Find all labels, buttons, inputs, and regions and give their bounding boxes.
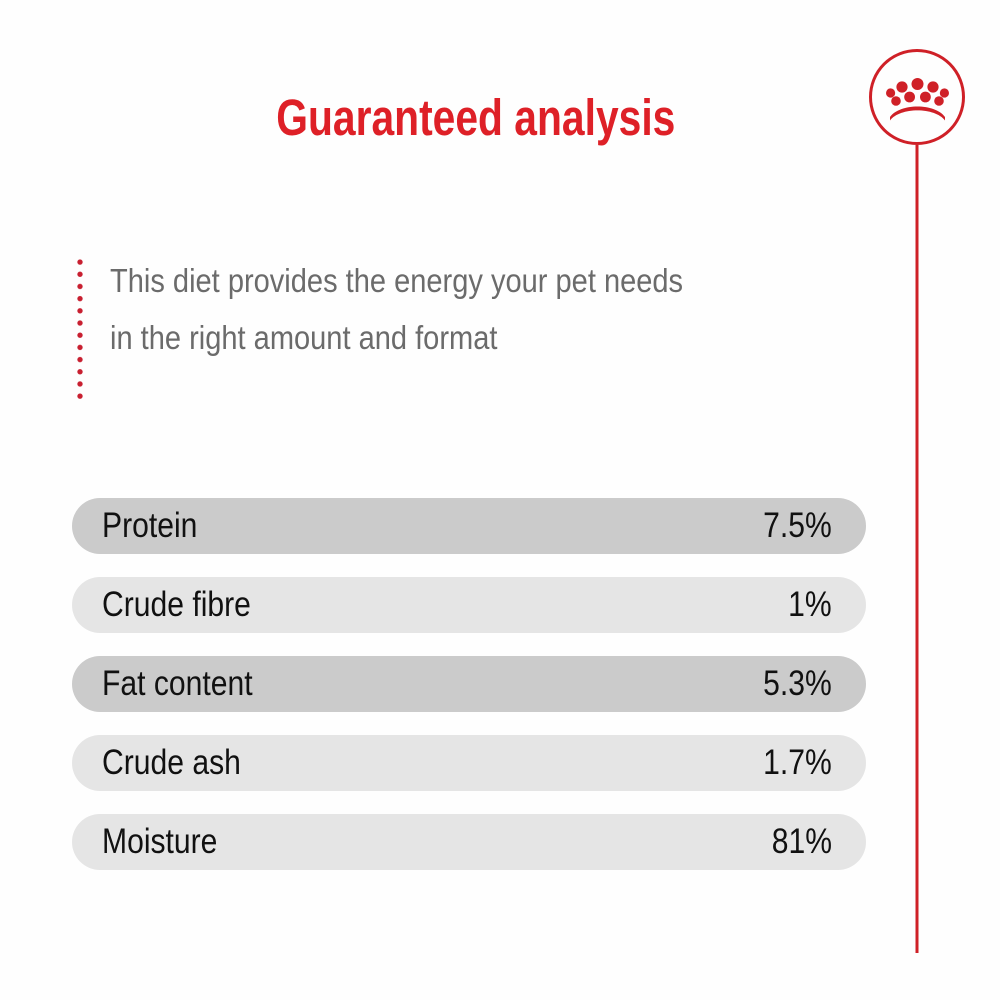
guaranteed-analysis-page: Guaranteed analysis This diet provides t… xyxy=(0,0,1000,1000)
analysis-table: Protein7.5%Crude fibre1%Fat content5.3%C… xyxy=(72,498,866,870)
row-label: Protein xyxy=(102,506,197,546)
row-value: 81% xyxy=(772,822,832,862)
table-row: Crude fibre1% xyxy=(72,577,866,633)
row-label: Fat content xyxy=(102,664,253,704)
row-value: 1% xyxy=(788,585,832,625)
dotted-accent-rule xyxy=(76,256,84,401)
brand-logo xyxy=(869,49,969,149)
table-row: Fat content5.3% xyxy=(72,656,866,712)
logo-stem-line xyxy=(916,145,919,953)
table-row: Crude ash1.7% xyxy=(72,735,866,791)
intro-line-1: This diet provides the energy your pet n… xyxy=(110,252,744,309)
row-value: 5.3% xyxy=(763,664,832,704)
row-value: 1.7% xyxy=(763,743,832,783)
row-label: Moisture xyxy=(102,822,217,862)
row-value: 7.5% xyxy=(763,506,832,546)
row-label: Crude fibre xyxy=(102,585,251,625)
crown-icon xyxy=(886,75,949,121)
page-title: Guaranteed analysis xyxy=(95,88,857,148)
intro-text: This diet provides the energy your pet n… xyxy=(110,252,744,366)
row-label: Crude ash xyxy=(102,743,241,783)
table-row: Moisture81% xyxy=(72,814,866,870)
table-row: Protein7.5% xyxy=(72,498,866,554)
intro-line-2: in the right amount and format xyxy=(110,309,744,366)
